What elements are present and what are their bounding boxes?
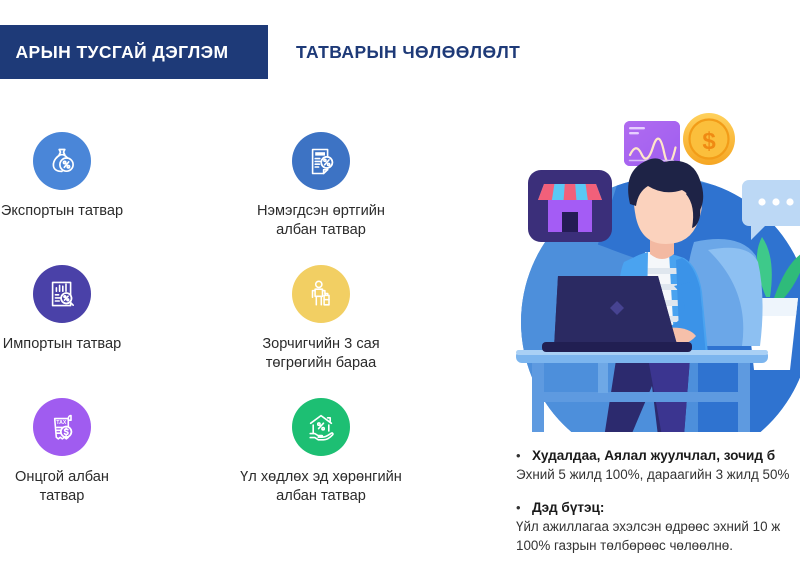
slide-root: АРЫН ТУСГАЙ ДЭГЛЭМ ТАТВАРЫН ЧӨЛӨӨЛӨЛТ [0, 0, 800, 570]
tab-special-regime-label: АРЫН ТУСГАЙ ДЭГЛЭМ [0, 42, 228, 63]
benefit-bullet-list: • Худалдаа, Аялал жуулчлал, зочид б Эхни… [516, 446, 800, 558]
tax-item-vat-label: Нэмэгдсэн өртгийн албан татвар [196, 202, 446, 241]
svg-text:TAX: TAX [56, 420, 67, 426]
tax-item-import-tax[interactable]: Импортын татвар [0, 265, 187, 354]
tax-item-real-estate-tax[interactable]: Үл хөдлөх эд хөрөнгийн албан татвар [196, 398, 446, 507]
tab-special-regime[interactable]: АРЫН ТУСГАЙ ДЭГЛЭМ [0, 25, 268, 79]
tax-item-passenger-goods-label: Зорчигчийн 3 сая төгрөгийн бараа [196, 335, 446, 374]
bullet-infrastructure-body: Үйл ажиллагаа эхэлсэн өдрөөс эхний 10 ж … [516, 517, 800, 555]
tax-receipt-dollar-icon: TAX [33, 398, 91, 456]
tax-item-export-tax-label: Экспортын татвар [0, 202, 187, 221]
bullet-trade-tourism-hotel: • Худалдаа, Аялал жуулчлал, зочид б [516, 446, 800, 465]
man-working-at-laptop-illustration: $ [498, 92, 800, 432]
tab-tax-exemption[interactable]: ТАТВАРЫН ЧӨЛӨӨЛӨЛТ [296, 25, 520, 79]
bullet-marker: • [516, 446, 532, 465]
bullet-infrastructure: • Дэд бүтэц: [516, 498, 800, 517]
tax-item-real-estate-tax-label: Үл хөдлөх эд хөрөнгийн албан татвар [196, 468, 446, 507]
tab-bar: АРЫН ТУСГАЙ ДЭГЛЭМ ТАТВАРЫН ЧӨЛӨӨЛӨЛТ [0, 25, 800, 79]
bullet-infrastructure-heading: Дэд бүтэц: [532, 498, 604, 517]
shop-storefront-icon [528, 170, 612, 242]
bullet-spacer [516, 484, 800, 498]
document-chart-search-icon [33, 265, 91, 323]
traveler-luggage-icon [292, 265, 350, 323]
tax-item-import-tax-label: Импортын татвар [0, 335, 187, 354]
tax-item-export-tax[interactable]: Экспортын татвар [0, 132, 187, 221]
bullet-trade-tourism-hotel-heading: Худалдаа, Аялал жуулчлал, зочид б [532, 446, 775, 465]
tax-item-passenger-goods[interactable]: Зорчигчийн 3 сая төгрөгийн бараа [196, 265, 446, 374]
tax-item-excise-tax[interactable]: TAX Онцгой албан татвар [0, 398, 187, 507]
house-percent-hand-icon [292, 398, 350, 456]
money-bag-percent-icon [33, 132, 91, 190]
tax-item-vat[interactable]: Нэмэгдсэн өртгийн албан татвар [196, 132, 446, 241]
dollar-coin-icon: $ [683, 113, 735, 165]
tax-item-excise-tax-label: Онцгой албан татвар [0, 468, 187, 507]
bullet-trade-tourism-hotel-body: Эхний 5 жилд 100%, дараагийн 3 жилд 50% [516, 465, 800, 484]
tax-item-grid: Экспортын татвар [0, 132, 500, 552]
bullet-marker: • [516, 498, 532, 517]
tab-tax-exemption-label: ТАТВАРЫН ЧӨЛӨӨЛӨЛТ [296, 42, 520, 63]
svg-text:$: $ [702, 128, 716, 155]
invoice-percent-icon [292, 132, 350, 190]
